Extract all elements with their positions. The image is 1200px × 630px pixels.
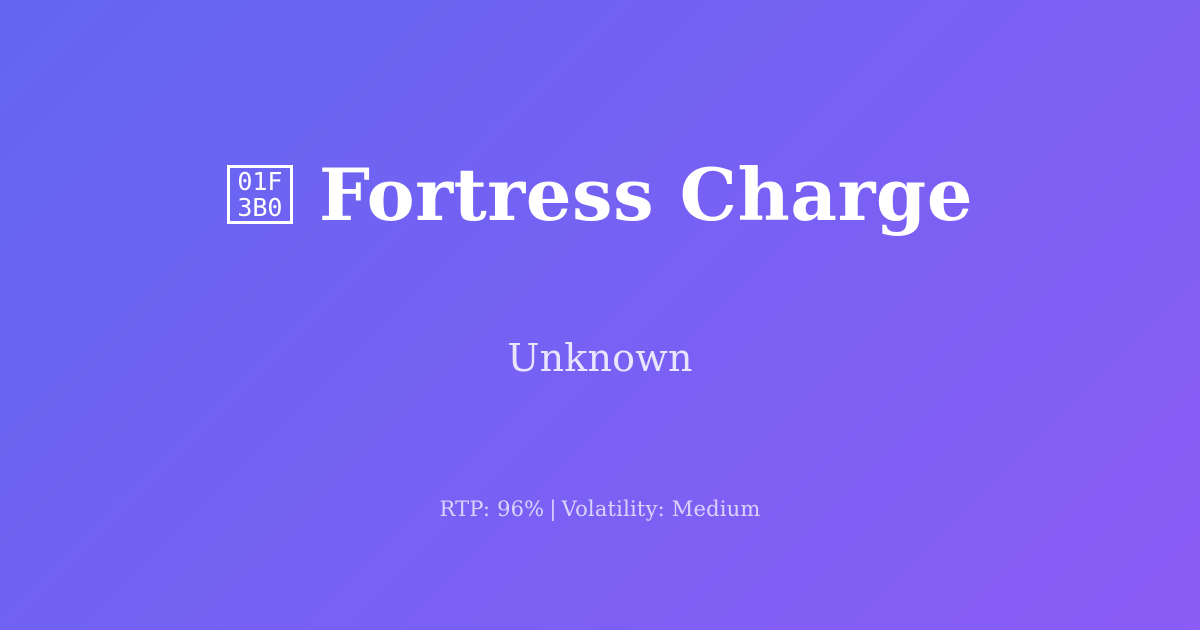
title-row: 01F 3B0 Fortress Charge [227, 110, 973, 278]
tofu-codepoint-bottom: 3B0 [237, 195, 282, 221]
page-title: Fortress Charge [319, 159, 973, 231]
volatility-value: Volatility: Medium [562, 497, 761, 521]
stats-separator: | [544, 497, 561, 521]
game-og-card: 01F 3B0 Fortress Charge Unknown RTP: 96%… [0, 0, 1200, 630]
provider-name: Unknown [507, 339, 692, 377]
rtp-value: RTP: 96% [439, 497, 544, 521]
game-stats: RTP: 96%|Volatility: Medium [439, 499, 760, 520]
slot-machine-icon: 01F 3B0 [227, 165, 293, 224]
tofu-codepoint-top: 01F [237, 169, 282, 195]
